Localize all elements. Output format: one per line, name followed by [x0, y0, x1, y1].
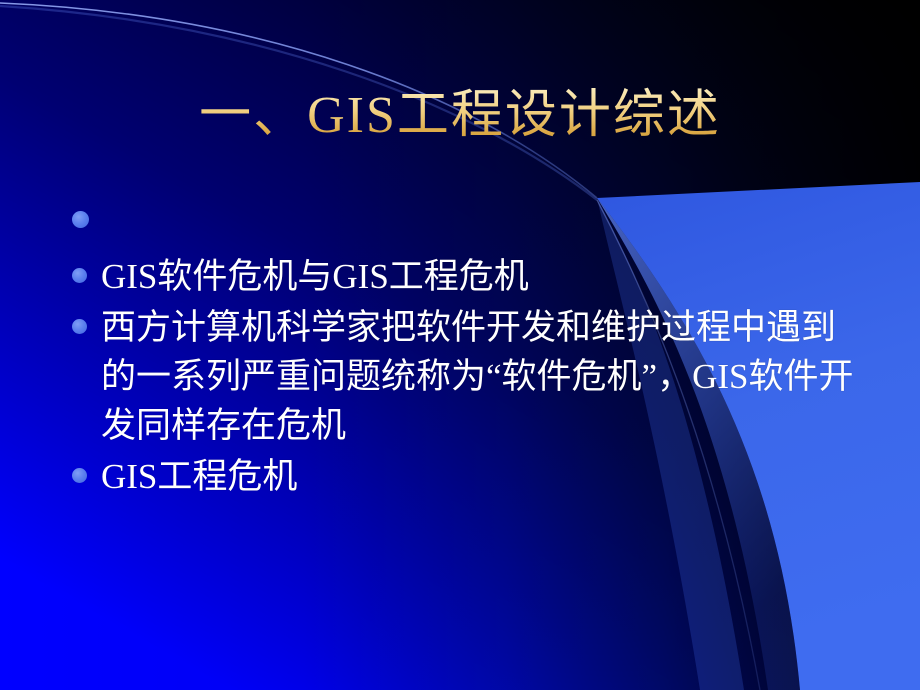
content-placeholder: GIS软件危机与GIS工程危机 西方计算机科学家把软件开发和维护过程中遇到的一系…	[72, 208, 862, 503]
list-item[interactable]: GIS工程危机	[72, 452, 862, 501]
list-item-label: GIS工程危机	[87, 452, 862, 501]
bullet-circle-icon	[72, 268, 87, 283]
list-item[interactable]	[72, 208, 862, 250]
presentation-slide: 一、GIS工程设计综述 GIS软件危机与GIS工程危机 西方计算机科学家把软件开…	[0, 0, 920, 690]
bullet-circle-icon	[72, 319, 87, 334]
list-item-label: 西方计算机科学家把软件开发和维护过程中遇到的一系列严重问题统称为“软件危机”，G…	[87, 303, 862, 450]
bullet-circle-icon	[72, 211, 89, 228]
bullet-circle-icon	[72, 468, 87, 483]
list-item[interactable]: 西方计算机科学家把软件开发和维护过程中遇到的一系列严重问题统称为“软件危机”，G…	[72, 303, 862, 450]
list-item[interactable]: GIS软件危机与GIS工程危机	[72, 252, 862, 301]
list-item-label: GIS软件危机与GIS工程危机	[87, 252, 862, 301]
list-item-label	[89, 208, 862, 250]
